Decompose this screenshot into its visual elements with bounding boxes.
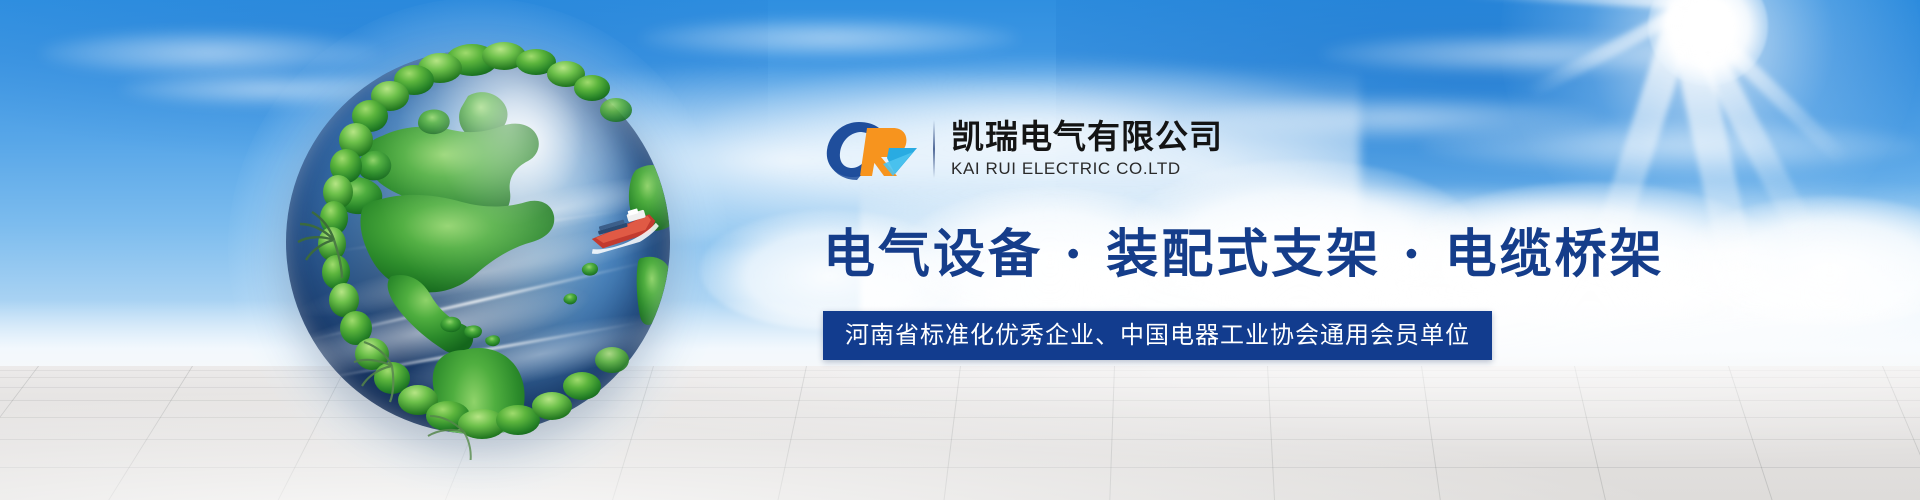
- credentials-ribbon: 河南省标准化优秀企业、中国电器工业协会通用会员单位: [823, 311, 1492, 360]
- hero-headline: 电气设备 · 装配式支架 · 电缆桥架: [823, 212, 1523, 287]
- tree-canopies: [318, 42, 632, 439]
- brand-lockup[interactable]: 凯瑞电气有限公司 KAI RUI ELECTRIC CO.LTD: [823, 110, 1523, 188]
- credentials-text: 河南省标准化优秀企业、中国电器工业协会通用会员单位: [845, 322, 1470, 348]
- brand-text: 凯瑞电气有限公司 KAI RUI ELECTRIC CO.LTD: [951, 119, 1223, 180]
- eco-earth-globe: [268, 28, 688, 460]
- logo-divider: [933, 120, 935, 178]
- company-name-en: KAI RUI ELECTRIC CO.LTD: [951, 159, 1223, 179]
- hero-banner: 凯瑞电气有限公司 KAI RUI ELECTRIC CO.LTD 电气设备 · …: [0, 0, 1920, 500]
- company-name-cn: 凯瑞电气有限公司: [951, 119, 1223, 156]
- cr-monogram-logo: [823, 118, 919, 180]
- banner-content: 凯瑞电气有限公司 KAI RUI ELECTRIC CO.LTD 电气设备 · …: [823, 110, 1523, 360]
